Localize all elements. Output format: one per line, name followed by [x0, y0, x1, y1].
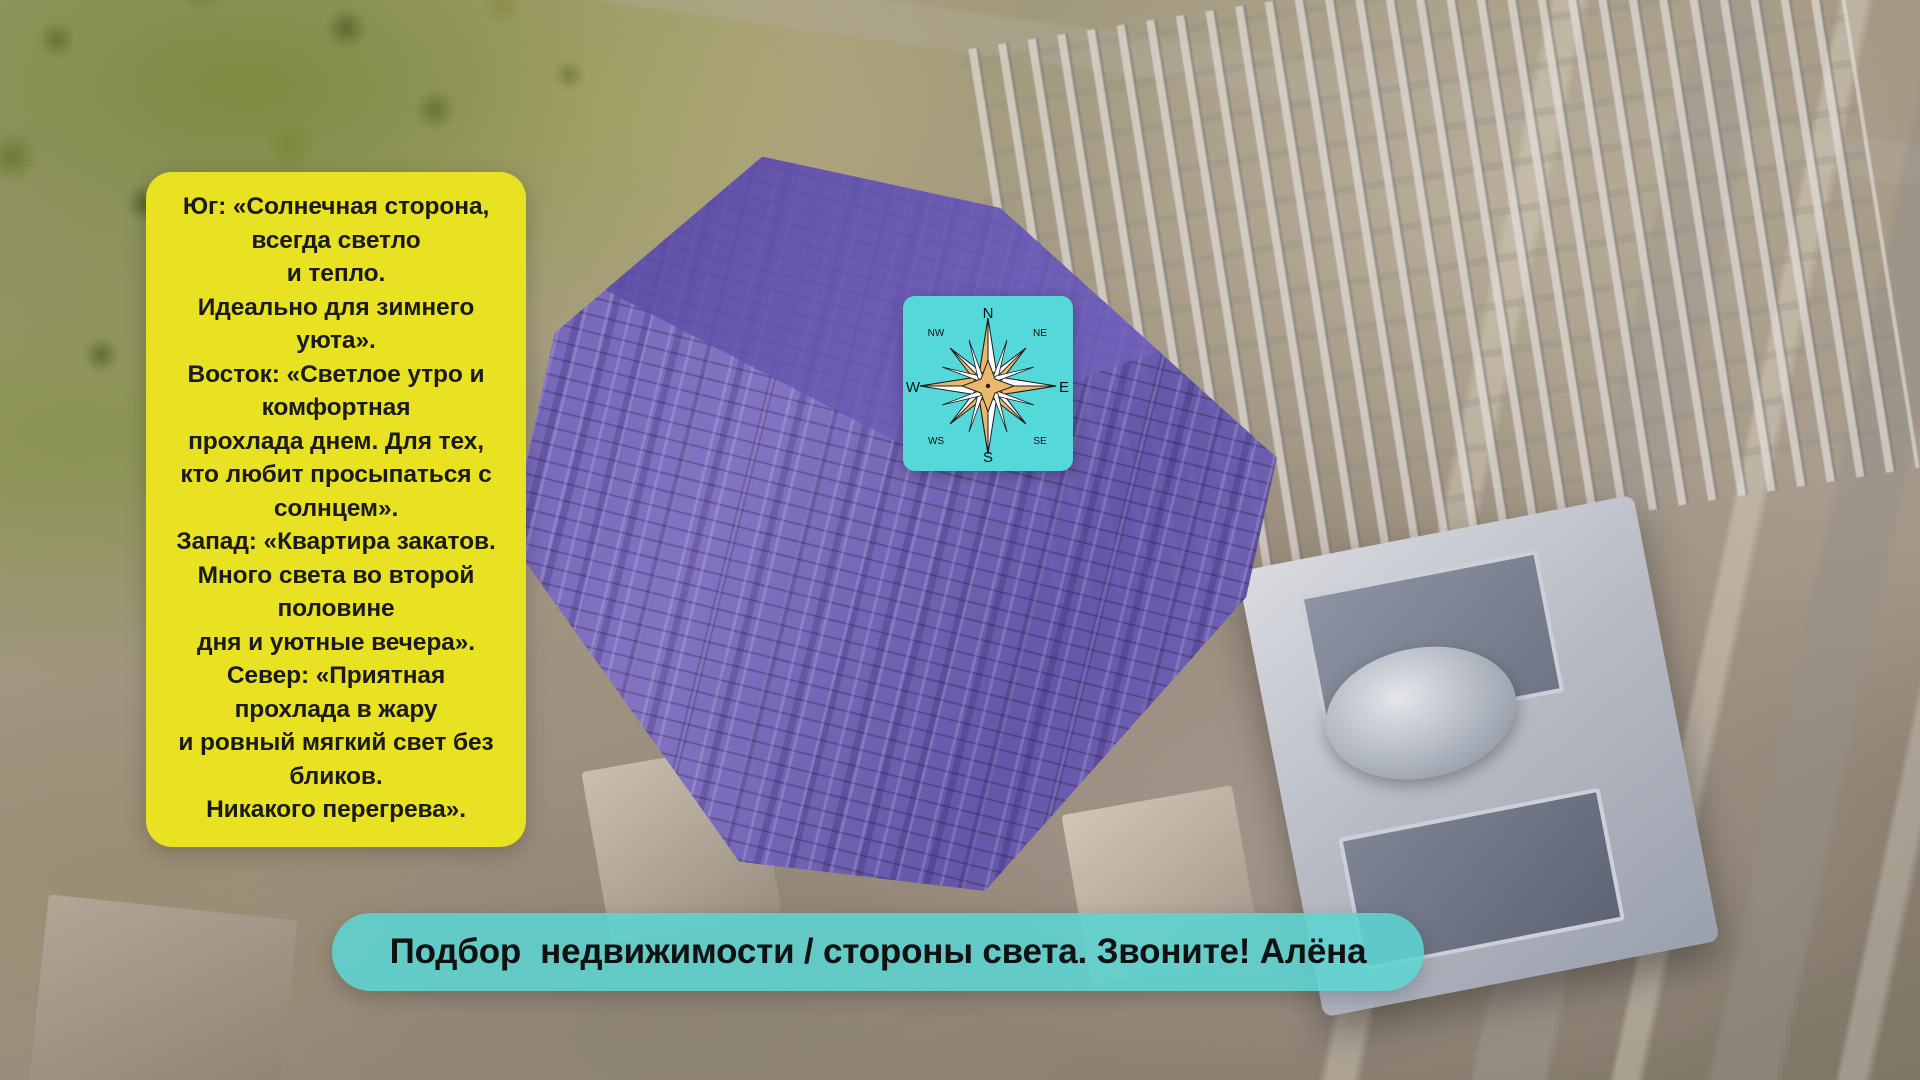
info-card-line-18: Никакого перегрева». [160, 793, 512, 827]
info-card-line-7: прохлада днем. Для тех, [160, 425, 512, 459]
orientation-info-card: Юг: «Солнечная сторона, всегда светло и … [146, 172, 526, 847]
compass-label-north: N [983, 305, 994, 322]
compass-label-east: E [1059, 379, 1069, 396]
compass-label-west: W [906, 379, 921, 396]
info-card-line-1: всегда светло [160, 224, 512, 258]
info-card-line-5: Восток: «Светлое утро и [160, 358, 512, 392]
info-card-line-9: солнцем». [160, 492, 512, 526]
info-card-line-12: половине [160, 592, 512, 626]
compass-label-southwest: WS [928, 436, 944, 447]
compass-label-northwest: NW [928, 328, 945, 339]
cta-banner-text: Подбор недвижимости / стороны света. Зво… [390, 932, 1367, 972]
info-card-line-3: Идеально для зимнего [160, 291, 512, 325]
info-card-line-0: Юг: «Солнечная сторона, [160, 190, 512, 224]
info-card-line-13: дня и уютные вечера». [160, 626, 512, 660]
info-card-line-4: уюта». [160, 324, 512, 358]
info-card-line-11: Много света во второй [160, 559, 512, 593]
info-card-line-15: прохлада в жару [160, 693, 512, 727]
info-card-line-2: и тепло. [160, 257, 512, 291]
cta-banner[interactable]: Подбор недвижимости / стороны света. Зво… [332, 913, 1424, 991]
poster-canvas: Юг: «Солнечная сторона, всегда светло и … [0, 0, 1920, 1080]
info-card-line-16: и ровный мягкий свет без [160, 726, 512, 760]
compass-label-northeast: NE [1033, 328, 1047, 339]
compass-label-south: S [983, 449, 993, 466]
info-card-line-14: Север: «Приятная [160, 659, 512, 693]
compass-rose-card: N S E W NW NE WS SE [903, 296, 1073, 471]
info-card-line-17: бликов. [160, 760, 512, 794]
info-card-line-6: комфортная [160, 391, 512, 425]
compass-rose-icon: N S E W NW NE WS SE [903, 296, 1073, 471]
compass-label-southeast: SE [1033, 436, 1047, 447]
info-card-line-10: Запад: «Квартира закатов. [160, 525, 512, 559]
info-card-line-8: кто любит просыпаться с [160, 458, 512, 492]
